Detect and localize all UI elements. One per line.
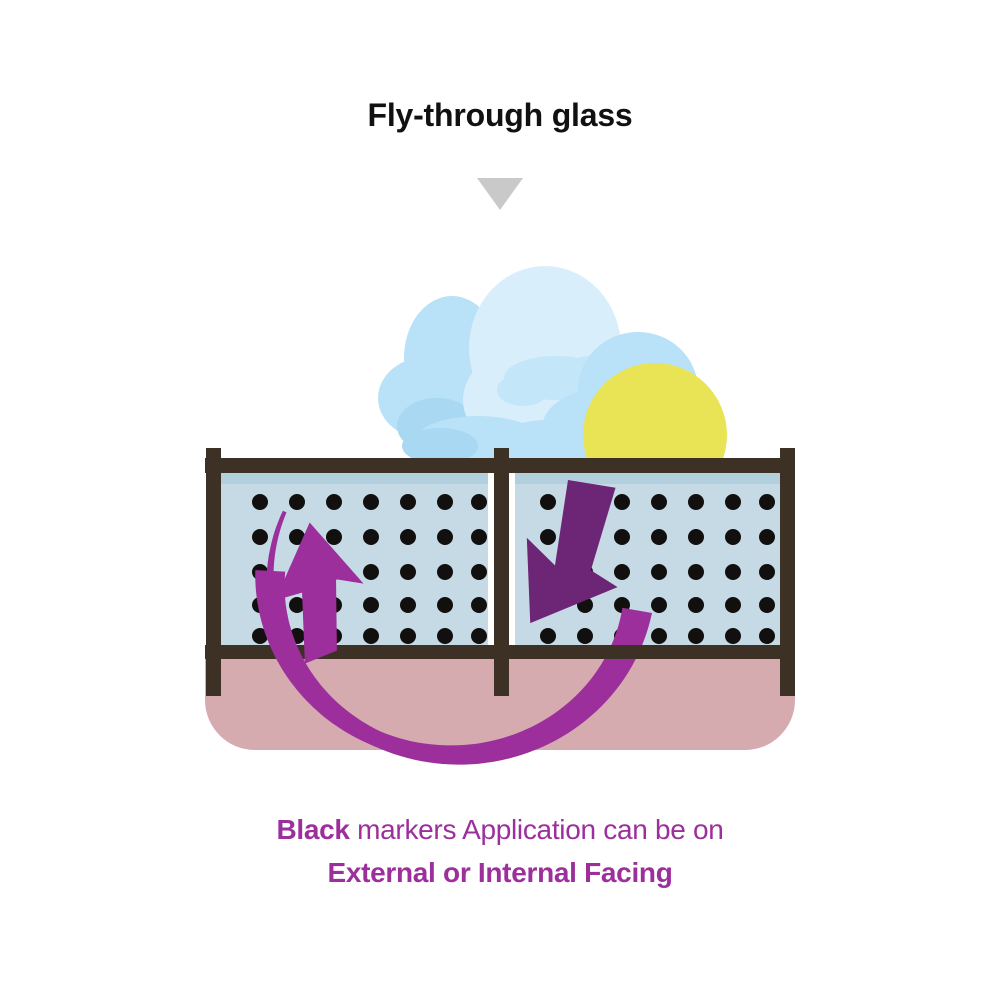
title-block: Fly-through glass [0, 98, 1000, 133]
caption-line-2: External or Internal Facing [0, 851, 1000, 894]
cloud-texture [497, 374, 549, 406]
title-caret [0, 178, 1000, 212]
caption-strong-word: Black [276, 814, 349, 845]
page-title: Fly-through glass [0, 98, 1000, 133]
illustration [0, 250, 1000, 780]
fence-post-middle [494, 448, 509, 696]
fly-through-glass-illustration [0, 250, 1000, 780]
triangle-down-icon [477, 178, 523, 212]
caption-block: Black markers Application can be on Exte… [0, 808, 1000, 895]
caption-line-1: Black markers Application can be on [0, 808, 1000, 851]
fence-post-left [206, 448, 221, 696]
fence-post-right [780, 448, 795, 696]
page-canvas: Fly-through glass [0, 0, 1000, 1000]
sun-panel-band [515, 472, 790, 484]
caption-rest-text: markers Application can be on [350, 814, 724, 845]
